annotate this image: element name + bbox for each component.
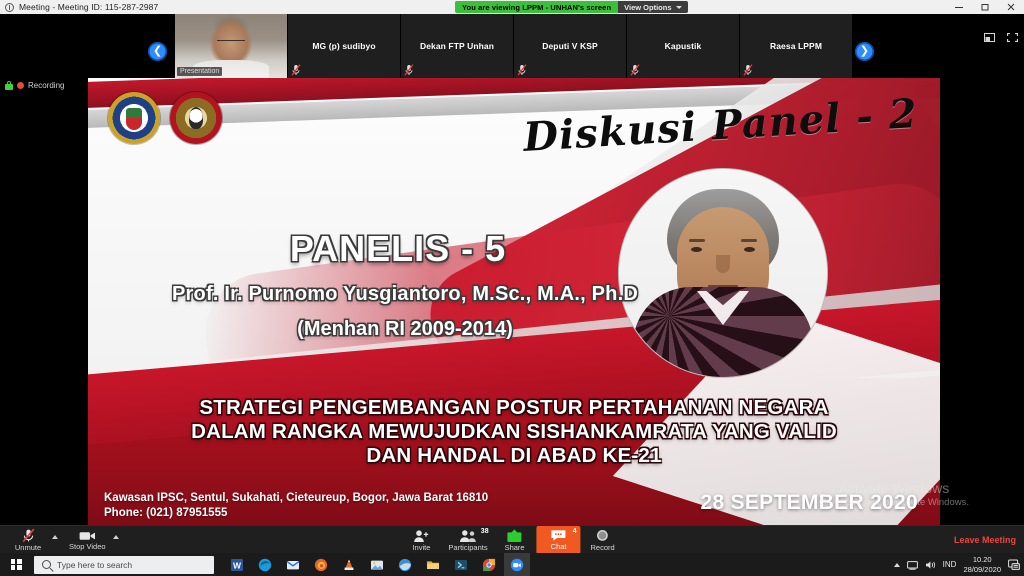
stop-video-label: Stop Video — [69, 543, 106, 551]
taskbar-app-word[interactable]: W — [224, 553, 250, 576]
zoom-icon — [5, 3, 14, 12]
slide-logos — [108, 92, 222, 144]
taskbar-app-zoom[interactable] — [504, 553, 530, 576]
windows-logo-icon — [11, 559, 22, 570]
next-participants-button[interactable]: ❯ — [855, 42, 874, 61]
kementerian-pertahanan-logo — [108, 92, 160, 144]
zoom-toolbar: Unmute Stop Video Invite — [0, 525, 1024, 553]
share-screen-button[interactable]: Share — [493, 526, 537, 554]
participant-tiles: Presentation MG (p) sudibyo Dekan FTP Un… — [175, 14, 853, 78]
share-screen-icon — [507, 529, 523, 543]
view-options-label: View Options — [624, 3, 671, 12]
participant-name: MG (p) sudibyo — [312, 41, 375, 51]
screen-share-banner: You are viewing LPPM - UNHAN's screen Vi… — [455, 1, 688, 13]
mic-muted-icon — [517, 64, 527, 76]
shared-slide: Diskusi Panel - 2 PANELIS - 5 Prof. Ir. … — [88, 78, 940, 525]
firefox-icon — [314, 558, 328, 572]
recording-label: Recording — [28, 81, 64, 90]
share-label: Share — [505, 544, 525, 552]
slide-phone-line: Phone: (021) 87951555 — [104, 506, 488, 521]
slide-topic-line-1: STRATEGI PENGEMBANGAN POSTUR PERTAHANAN … — [88, 396, 940, 420]
show-hidden-icons[interactable] — [894, 563, 900, 567]
toolbar-left-group: Unmute Stop Video — [6, 526, 125, 554]
video-options-chevron-icon[interactable] — [113, 535, 119, 539]
chrome-icon — [482, 558, 496, 572]
vlc-icon — [342, 558, 356, 572]
search-placeholder: Type here to search — [57, 560, 132, 570]
minimize-icon[interactable] — [946, 0, 972, 14]
participant-tile-deputi-v-ksp[interactable]: Deputi V KSP — [514, 14, 627, 78]
invite-label: Invite — [412, 544, 430, 552]
previous-participants-button[interactable]: ❮ — [148, 42, 167, 61]
mic-muted-icon — [743, 64, 753, 76]
mic-muted-icon — [404, 64, 414, 76]
portrait-eye-right — [744, 247, 755, 252]
taskbar-app-vlc[interactable] — [336, 553, 362, 576]
taskbar-app-photos[interactable] — [364, 553, 390, 576]
slide-topic-title: STRATEGI PENGEMBANGAN POSTUR PERTAHANAN … — [88, 396, 940, 468]
full-screen-icon[interactable] — [1007, 33, 1018, 42]
clock-date: 28/09/2020 — [963, 565, 1001, 575]
slide-topic-line-3: DAN HANDAL DI ABAD KE-21 — [88, 444, 940, 468]
record-label: Record — [591, 544, 615, 552]
windows-taskbar: Type here to search W — [0, 553, 1024, 576]
invite-icon — [413, 529, 429, 543]
chat-count-badge: 4 — [573, 528, 577, 535]
window-title: Meeting - Meeting ID: 115-287-2987 — [19, 2, 158, 12]
window-title-bar: Meeting - Meeting ID: 115-287-2987 You a… — [0, 0, 1024, 14]
video-camera-icon — [79, 530, 96, 542]
unhan-logo — [170, 92, 222, 144]
lock-icon — [5, 81, 13, 90]
participants-button[interactable]: 38 Participants — [443, 526, 492, 554]
viewing-screen-label: You are viewing LPPM - UNHAN's screen — [455, 1, 618, 13]
search-input[interactable]: Type here to search — [34, 556, 214, 574]
mic-muted-icon — [630, 64, 640, 76]
participants-count-badge: 38 — [481, 528, 489, 535]
minimize-video-panel-icon[interactable] — [984, 33, 995, 42]
taskbar-apps: W — [224, 553, 530, 576]
participant-video-glasses — [217, 40, 245, 45]
unmute-label: Unmute — [15, 544, 41, 552]
portrait-nose — [716, 255, 730, 273]
view-options-button[interactable]: View Options — [618, 1, 687, 13]
slide-panelis-heading: PANELIS - 5 — [88, 228, 708, 270]
toolbar-right-group: Leave Meeting — [954, 526, 1016, 554]
chevron-down-icon — [676, 6, 682, 9]
participant-thumbnail-strip: ❮ Presentation MG (p) sudibyo Dekan FTP … — [0, 14, 1024, 78]
start-button[interactable] — [0, 553, 32, 576]
leave-meeting-button[interactable]: Leave Meeting — [954, 535, 1016, 545]
close-icon[interactable] — [998, 0, 1024, 14]
taskbar-app-chrome[interactable] — [476, 553, 502, 576]
volume-icon[interactable] — [925, 560, 936, 570]
taskbar-app-weather[interactable] — [392, 553, 418, 576]
participant-name: Kapustik — [665, 41, 702, 51]
mail-icon — [286, 558, 300, 572]
action-center-icon[interactable] — [1008, 559, 1020, 570]
mic-muted-icon — [21, 528, 36, 543]
recording-dot-icon — [17, 82, 24, 89]
powershell-icon — [454, 558, 468, 572]
slide-date: 28 SEPTEMBER 2020 — [700, 491, 918, 515]
taskbar-app-firefox[interactable] — [308, 553, 334, 576]
taskbar-app-edge[interactable] — [252, 553, 278, 576]
search-icon — [42, 560, 51, 569]
photos-icon — [370, 558, 384, 572]
slide-address-line: Kawasan IPSC, Sentul, Sukahati, Cieteure… — [104, 491, 488, 506]
chat-button[interactable]: 4 Chat — [537, 526, 581, 554]
clock-time: 10.20 — [963, 555, 1001, 565]
slide-panelist-name: Prof. Ir. Purnomo Yusgiantoro, M.Sc., M.… — [88, 283, 722, 306]
record-button[interactable]: Record — [581, 526, 625, 554]
mic-muted-icon — [291, 64, 301, 76]
folder-icon — [426, 558, 440, 572]
participants-label: Participants — [448, 544, 487, 552]
zoom-meeting-window: Meeting - Meeting ID: 115-287-2987 You a… — [0, 0, 1024, 576]
word-icon: W — [230, 558, 244, 572]
edge-icon — [258, 558, 272, 572]
toolbar-center-group: Invite 38 Participants Share — [399, 526, 624, 554]
system-tray: IND 10.20 28/09/2020 — [894, 553, 1020, 576]
restore-icon[interactable] — [972, 0, 998, 14]
audio-options-chevron-icon[interactable] — [52, 535, 58, 539]
chat-label: Chat — [551, 543, 567, 551]
strip-corner-icons — [984, 33, 1018, 42]
participant-tile-raesa-lppm[interactable]: Raesa LPPM — [740, 14, 853, 78]
svg-text:W: W — [233, 560, 242, 570]
chat-icon — [551, 529, 567, 542]
participants-icon — [459, 529, 477, 543]
taskbar-app-powershell[interactable] — [448, 553, 474, 576]
stop-video-button[interactable]: Stop Video — [64, 526, 111, 554]
participant-tile-dekan-ftp-unhan[interactable]: Dekan FTP Unhan — [401, 14, 514, 78]
slide-topic-line-2: DALAM RANGKA MEWUJUDKAN SISHANKAMRATA YA… — [88, 420, 940, 444]
shared-screen-stage: Recording Diskusi Panel - 2 — [0, 78, 1024, 525]
participant-tile-mg-sudibyo[interactable]: MG (p) sudibyo — [288, 14, 401, 78]
participant-tile-kapustik[interactable]: Kapustik — [627, 14, 740, 78]
portrait-brow-right — [741, 239, 757, 242]
clock[interactable]: 10.20 28/09/2020 — [963, 555, 1001, 574]
language-indicator[interactable]: IND — [943, 560, 957, 569]
unmute-button[interactable]: Unmute — [6, 526, 50, 554]
participant-tile-presentation[interactable]: Presentation — [175, 14, 288, 78]
panelist-portrait — [618, 168, 828, 378]
invite-button[interactable]: Invite — [399, 526, 443, 554]
participant-name: Deputi V KSP — [542, 41, 598, 51]
zoom-icon — [510, 558, 524, 572]
taskbar-app-mail[interactable] — [280, 553, 306, 576]
weather-icon — [398, 558, 412, 572]
participant-name: Dekan FTP Unhan — [420, 41, 494, 51]
slide-address: Kawasan IPSC, Sentul, Sukahati, Cieteure… — [104, 491, 488, 521]
presentation-badge: Presentation — [177, 67, 222, 76]
slide-panelist-role: (Menhan RI 2009-2014) — [88, 318, 722, 341]
network-icon[interactable] — [907, 560, 918, 570]
taskbar-app-file-explorer[interactable] — [420, 553, 446, 576]
participant-name: Raesa LPPM — [770, 41, 822, 51]
record-icon — [596, 529, 610, 543]
